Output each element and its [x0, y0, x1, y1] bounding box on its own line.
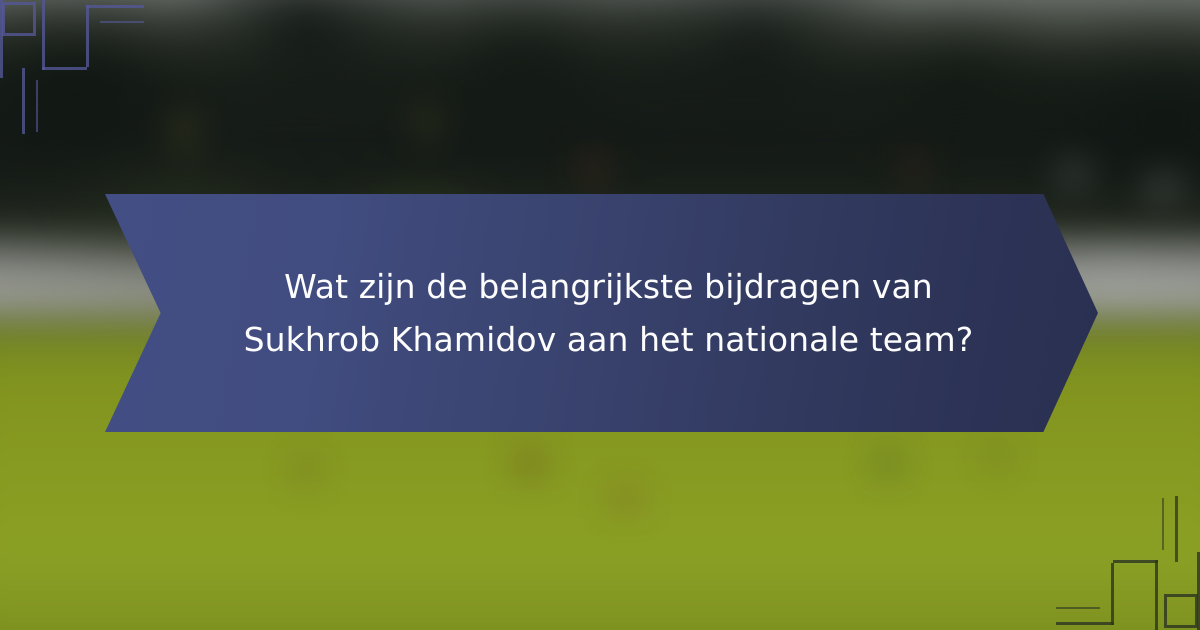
image-canvas: Wat zijn de belangrijkste bijdragen van … — [0, 0, 1200, 630]
question-line-2: Sukhrob Khamidov aan het nationale team? — [123, 313, 1094, 366]
question-line-1: Wat zijn de belangrijkste bijdragen van — [123, 260, 1094, 313]
question-text: Wat zijn de belangrijkste bijdragen van … — [105, 260, 1098, 367]
question-banner: Wat zijn de belangrijkste bijdragen van … — [105, 194, 1098, 432]
